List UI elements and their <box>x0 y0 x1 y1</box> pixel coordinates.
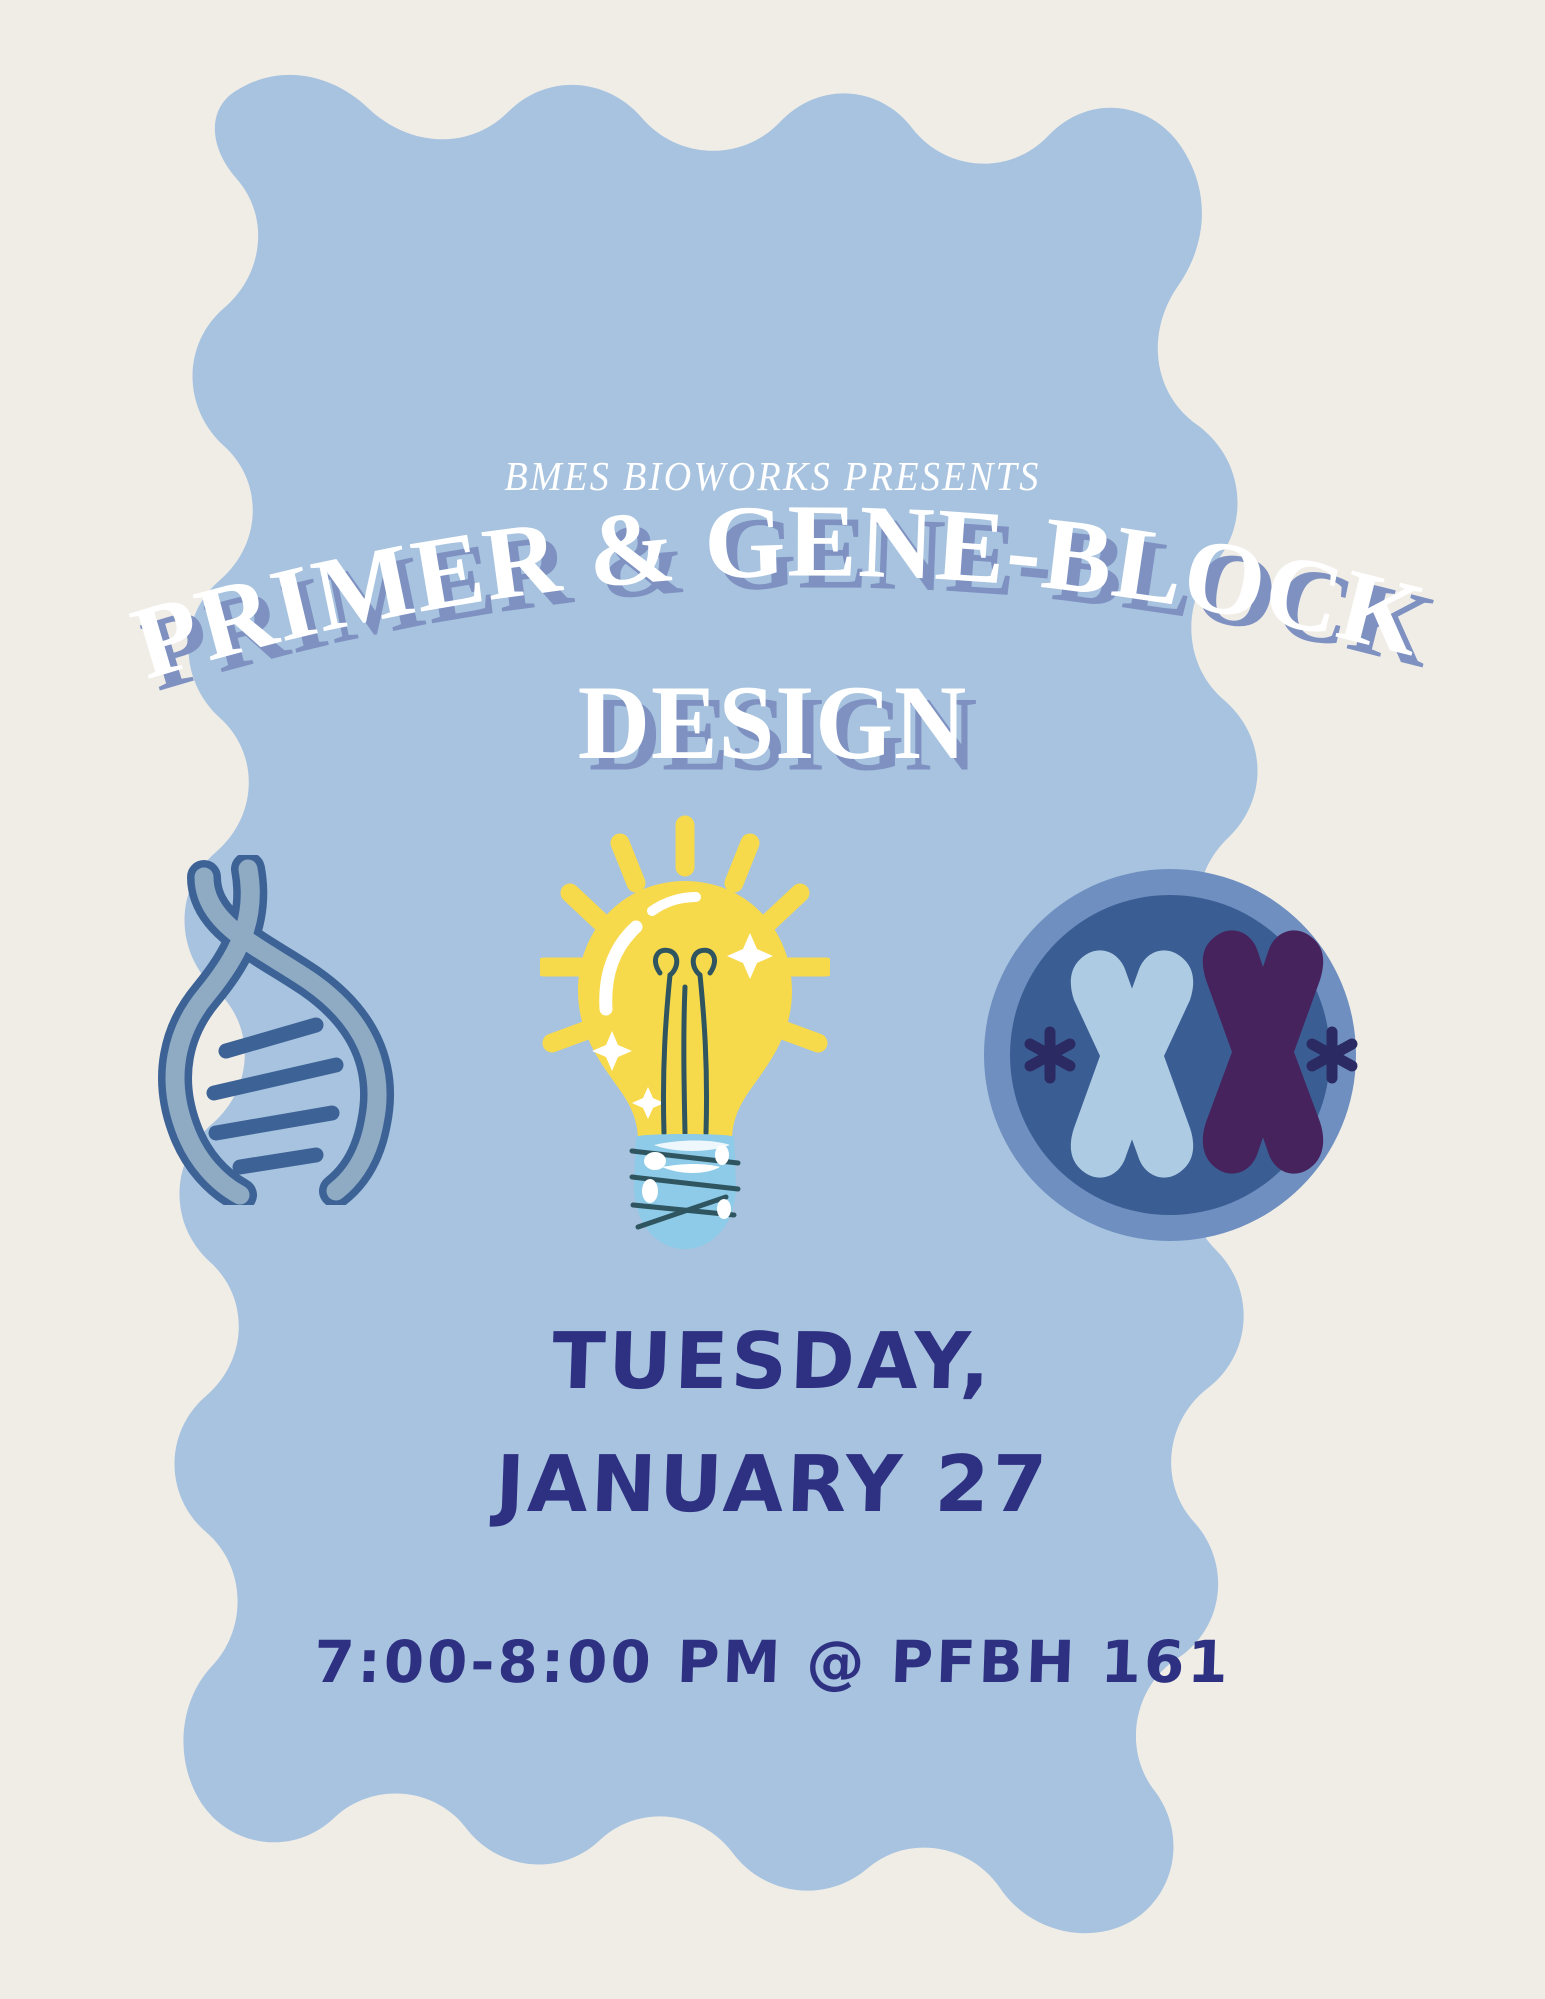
eyebrow-text: BMES BIOWORKS PRESENTS <box>54 452 1491 500</box>
event-date-line-2: JANUARY 27 <box>0 1440 1545 1530</box>
event-time-location: 7:00-8:00 PM @ PFBH 161 <box>0 1628 1545 1696</box>
title-line-2-text: DESIGN <box>0 662 1545 784</box>
light-bulb-icon <box>540 815 830 1285</box>
chromosome-cell-icon <box>980 860 1360 1250</box>
poster-canvas: BMES BIOWORKS PRESENTS PRIMER & GENE-BLO… <box>0 0 1545 1999</box>
dna-helix-icon <box>140 855 420 1205</box>
event-date-line-1: TUESDAY, <box>0 1317 1545 1407</box>
